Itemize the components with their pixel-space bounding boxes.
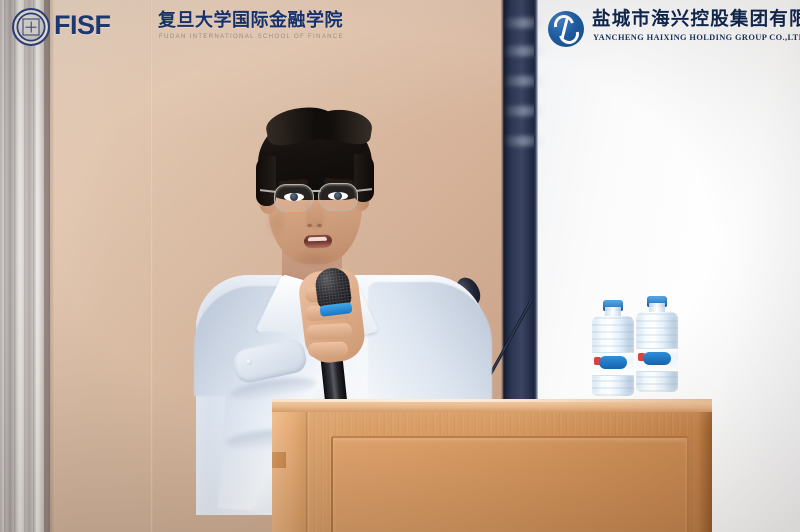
conference-photo: FISF 复旦大学国际金融学院 FUDAN INTERNATIONAL SCHO… [0, 0, 800, 532]
photo-vignette [0, 0, 800, 532]
